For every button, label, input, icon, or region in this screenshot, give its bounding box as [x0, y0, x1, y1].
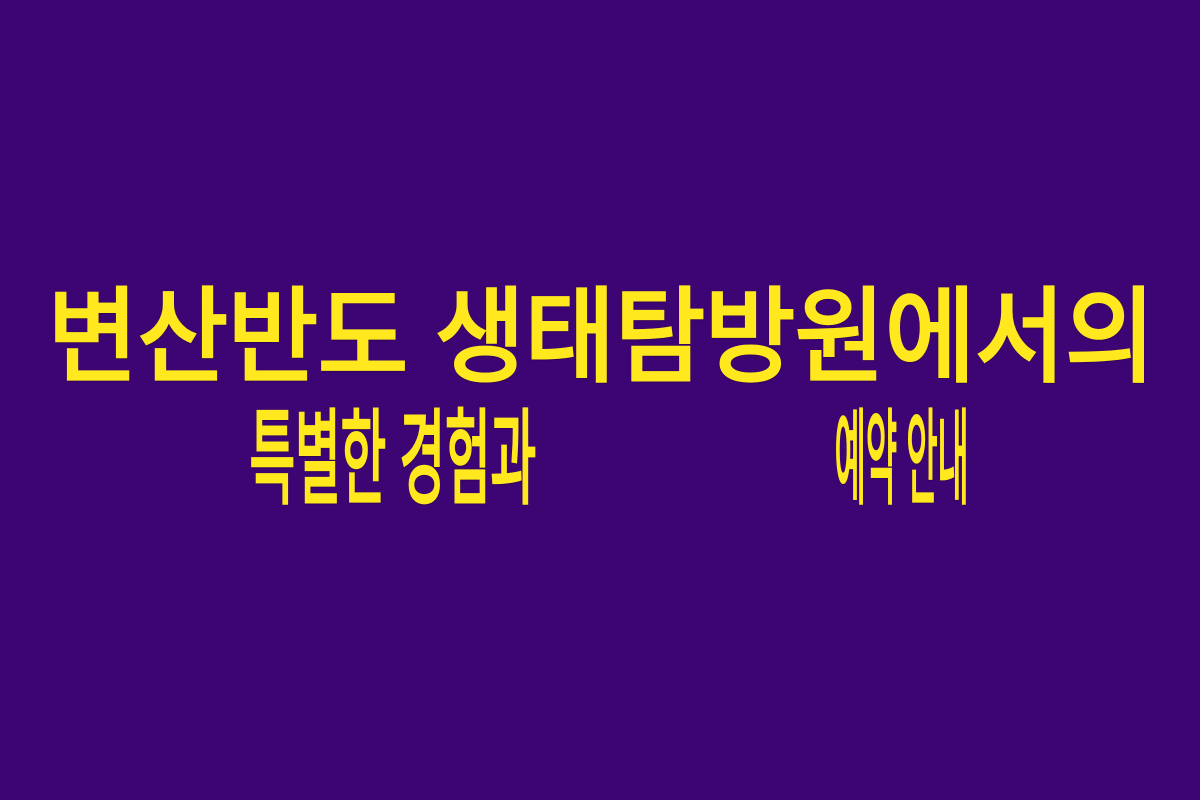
banner-canvas: 변산반도 생태탐방원에서의 특별한 경험과 예약 안내 [0, 0, 1200, 800]
headline-line-1: 변산반도 생태탐방원에서의 [48, 277, 1155, 399]
headline-block: 변산반도 생태탐방원에서의 특별한 경험과 예약 안내 [0, 277, 1200, 521]
headline-line-3: 예약 안내 [835, 399, 969, 521]
headline-line-2: 특별한 경험과 [250, 399, 536, 521]
